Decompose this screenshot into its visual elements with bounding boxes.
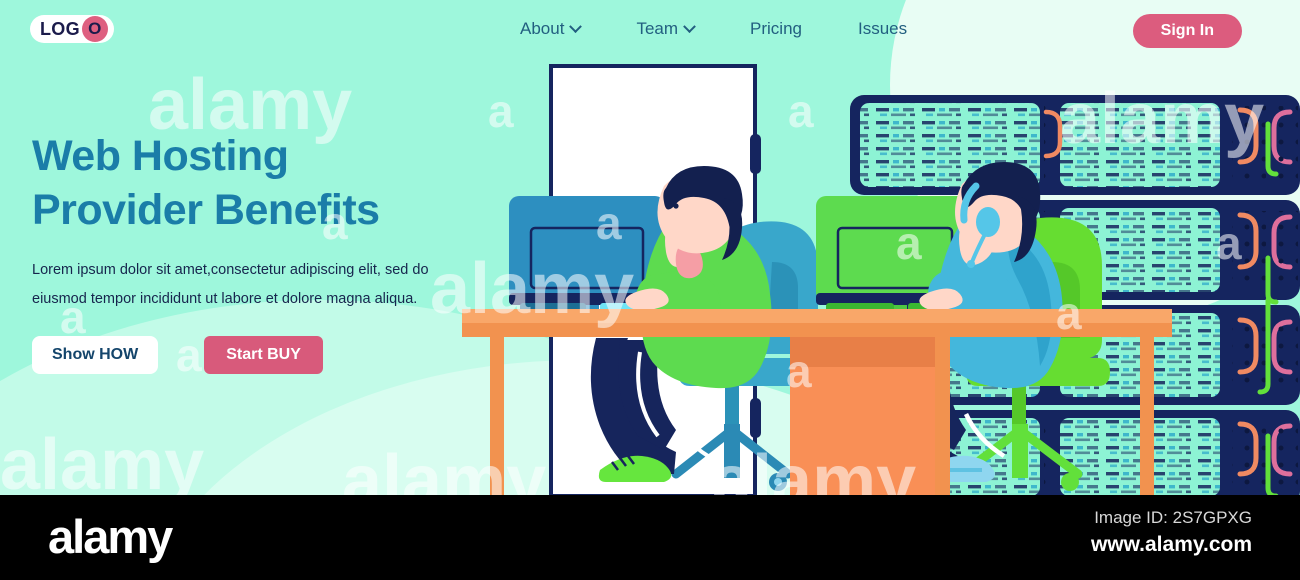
nav-label-issues: Issues	[858, 19, 907, 39]
start-buy-button[interactable]: Start BUY	[204, 336, 323, 374]
nav-item-about[interactable]: About	[520, 19, 580, 39]
hero-paragraph: Lorem ipsum dolor sit amet,consectetur a…	[32, 256, 457, 314]
logo-text: LOG	[40, 19, 80, 40]
main-navigation: About Team Pricing Issues	[520, 0, 907, 58]
landing-page-canvas: LOG O About Team Pricing Issues Sign In …	[0, 0, 1300, 495]
alamy-url: www.alamy.com	[1091, 533, 1252, 557]
nav-label-about: About	[520, 19, 564, 39]
nav-label-team: Team	[636, 19, 678, 39]
alamy-image-id: Image ID: 2S7GPXG	[1094, 508, 1252, 528]
hero-content: Web Hosting Provider Benefits Lorem ipsu…	[32, 130, 492, 374]
logo-circle-letter: O	[82, 16, 108, 42]
logo[interactable]: LOG O	[30, 15, 114, 43]
page-title: Web Hosting Provider Benefits	[32, 130, 492, 238]
chevron-down-icon	[570, 20, 583, 33]
nav-label-pricing: Pricing	[750, 19, 802, 39]
alamy-watermark-bar: alamy Image ID: 2S7GPXG www.alamy.com	[0, 495, 1300, 580]
hero-title-line1: Web Hosting	[32, 132, 288, 180]
sign-in-button[interactable]: Sign In	[1133, 14, 1242, 48]
hero-title-line2: Provider Benefits	[32, 184, 492, 238]
chevron-down-icon	[683, 20, 696, 33]
nav-item-team[interactable]: Team	[636, 19, 694, 39]
site-header: LOG O About Team Pricing Issues Sign In	[0, 0, 1300, 58]
show-how-button[interactable]: Show HOW	[32, 336, 158, 374]
nav-item-issues[interactable]: Issues	[858, 19, 907, 39]
hero-cta-group: Show HOW Start BUY	[32, 336, 492, 374]
nav-item-pricing[interactable]: Pricing	[750, 19, 802, 39]
alamy-logo: alamy	[48, 509, 171, 564]
